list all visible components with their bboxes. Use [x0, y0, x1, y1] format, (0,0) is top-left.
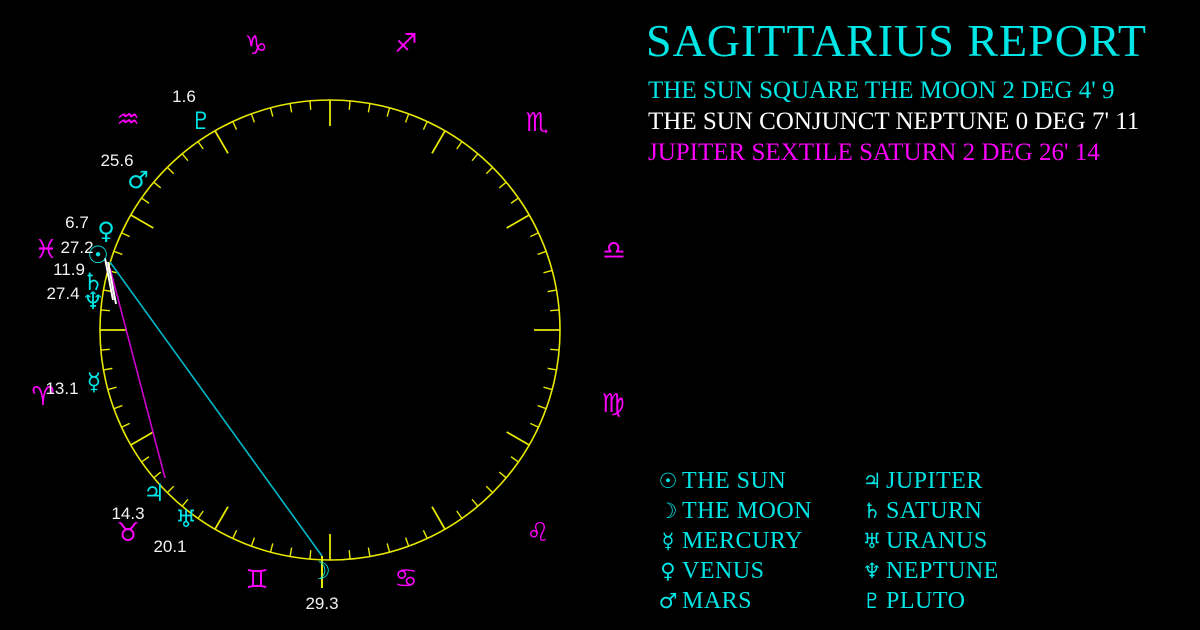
jupiter-icon: ♃ [858, 469, 886, 493]
degree-tick [290, 103, 292, 112]
degree-tick [198, 142, 203, 149]
degree-tick [550, 310, 559, 311]
legend-label-venus: VENUS [682, 558, 765, 585]
degree-tick [108, 387, 117, 389]
legend-item-moon[interactable]: ☽THE MOON [654, 496, 812, 526]
degree-tick [548, 368, 557, 370]
degree-tick [349, 550, 350, 559]
degree-tick [182, 154, 188, 161]
degree-tick [423, 530, 427, 538]
degree-tick [101, 349, 110, 350]
legend-label-neptune: NEPTUNE [886, 558, 999, 585]
degree-tick [270, 543, 272, 552]
legend-column-right: ♃JUPITER♄SATURN♅URANUS♆NEPTUNE♇PLUTO [858, 466, 999, 616]
sun-icon: ☉ [654, 469, 682, 493]
degree-tick [368, 103, 370, 112]
pluto-icon: ♇ [858, 589, 886, 613]
house-cusp-tick [131, 215, 154, 228]
legend-item-sun[interactable]: ☉THE SUN [654, 466, 812, 496]
legend-label-uranus: URANUS [886, 528, 988, 555]
degree-tick [530, 233, 538, 237]
degree-tick [233, 122, 237, 130]
aspect-summary-1: THE SUN CONJUNCT NEPTUNE 0 DEG 7' 11 [648, 108, 1139, 136]
degree-tick [387, 108, 389, 117]
neptune-icon: ♆ [858, 559, 886, 583]
degree-tick [538, 251, 546, 254]
degree-tick [122, 233, 130, 237]
astrology-report-page: ♑♐♒♏♓♎♈♍♉♌♊♋ ♇♂♀☉♄♆☿♃♅☽ 1.625.66.727.211… [0, 0, 1200, 630]
aspect-summary-0: THE SUN SQUARE THE MOON 2 DEG 4' 9 [648, 77, 1115, 105]
degree-tick [251, 538, 254, 546]
degree-tick [423, 122, 427, 130]
degree-tick [368, 548, 370, 557]
legend-label-pluto: PLUTO [886, 588, 965, 615]
legend-item-mercury[interactable]: ☿MERCURY [654, 526, 812, 556]
house-cusp-tick [507, 432, 530, 445]
degree-tick [538, 406, 546, 409]
degree-label-venus: 6.7 [65, 213, 89, 233]
legend-item-mars[interactable]: ♂MARS [654, 586, 812, 616]
legend-item-saturn[interactable]: ♄SATURN [858, 496, 999, 526]
degree-tick [122, 423, 130, 427]
legend-label-sun: THE SUN [682, 468, 786, 495]
planet-pointer-marks [105, 258, 322, 588]
degree-tick [154, 472, 161, 478]
legend-column-left: ☉THE SUN☽THE MOON☿MERCURY♀VENUS♂MARS [654, 466, 812, 616]
degree-label-neptune: 27.4 [46, 284, 79, 304]
degree-tick [251, 114, 254, 122]
natal-chart-wheel [0, 0, 660, 630]
mercury-icon: ☿ [654, 529, 682, 553]
degree-tick [530, 423, 538, 427]
degree-tick [114, 406, 122, 409]
degree-tick [486, 167, 492, 173]
degree-tick [310, 101, 311, 110]
degree-tick [406, 538, 409, 546]
degree-tick [472, 499, 478, 506]
degree-tick [457, 142, 462, 149]
degree-label-sun: 27.2 [60, 238, 93, 258]
report-panel: SAGITTARIUS REPORT THE SUN SQUARE THE MO… [646, 0, 1200, 630]
degree-tick [154, 182, 161, 188]
uranus-icon: ♅ [858, 529, 886, 553]
degree-tick [511, 457, 518, 462]
degree-tick [270, 108, 272, 117]
degree-tick [387, 543, 389, 552]
degree-label-mercury: 13.1 [45, 379, 78, 399]
legend-label-saturn: SATURN [886, 498, 982, 525]
degree-tick [182, 499, 188, 506]
legend-label-mercury: MERCURY [682, 528, 803, 555]
page-title: SAGITTARIUS REPORT [646, 14, 1147, 67]
degree-tick [167, 167, 173, 173]
degree-tick [548, 290, 557, 292]
house-cusp-tick [507, 215, 530, 228]
degree-tick [103, 368, 112, 370]
degree-tick [101, 310, 110, 311]
house-cusp-tick [131, 432, 154, 445]
house-cusp-tick [215, 131, 228, 154]
degree-tick [233, 530, 237, 538]
legend-label-jupiter: JUPITER [886, 468, 983, 495]
degree-tick [406, 114, 409, 122]
degree-label-mars: 25.6 [100, 151, 133, 171]
degree-label-uranus: 20.1 [153, 537, 186, 557]
degree-tick [167, 486, 173, 492]
legend-item-jupiter[interactable]: ♃JUPITER [858, 466, 999, 496]
wheel-tick-marks [100, 100, 560, 560]
degree-tick [349, 101, 350, 110]
house-cusp-tick [432, 507, 445, 530]
degree-tick [472, 154, 478, 161]
degree-label-pluto: 1.6 [172, 87, 196, 107]
moon-icon: ☽ [654, 499, 682, 523]
legend-item-pluto[interactable]: ♇PLUTO [858, 586, 999, 616]
degree-tick [486, 486, 492, 492]
legend-item-neptune[interactable]: ♆NEPTUNE [858, 556, 999, 586]
saturn-icon: ♄ [858, 499, 886, 523]
degree-tick [290, 548, 292, 557]
legend-item-uranus[interactable]: ♅URANUS [858, 526, 999, 556]
degree-label-moon: 29.3 [305, 594, 338, 614]
degree-tick [198, 511, 203, 518]
legend-label-moon: THE MOON [682, 498, 812, 525]
degree-label-jupiter: 14.3 [111, 504, 144, 524]
degree-tick [310, 550, 311, 559]
degree-tick [142, 198, 149, 203]
degree-tick [511, 198, 518, 203]
degree-tick [457, 511, 462, 518]
mars-icon: ♂ [654, 589, 682, 613]
degree-tick [142, 457, 149, 462]
legend-label-mars: MARS [682, 588, 752, 615]
degree-tick [543, 270, 552, 272]
degree-tick [114, 251, 122, 254]
degree-label-saturn: 11.9 [53, 260, 85, 280]
venus-icon: ♀ [654, 559, 682, 583]
aspect-summary-2: JUPITER SEXTILE SATURN 2 DEG 26' 14 [648, 139, 1100, 167]
legend-item-venus[interactable]: ♀VENUS [654, 556, 812, 586]
degree-tick [550, 349, 559, 350]
degree-tick [499, 182, 506, 188]
house-cusp-tick [215, 507, 228, 530]
degree-tick [499, 472, 506, 478]
house-cusp-tick [432, 131, 445, 154]
degree-tick [543, 387, 552, 389]
